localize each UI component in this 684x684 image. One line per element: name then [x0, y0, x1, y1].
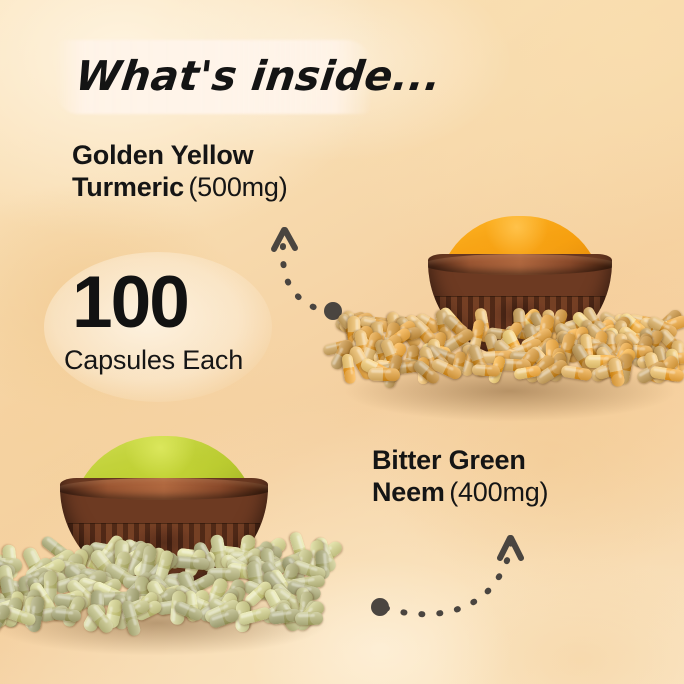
capsule	[52, 607, 82, 622]
ingredient-label-turmeric: Golden Yellow Turmeric (500mg)	[72, 140, 288, 204]
capsule	[295, 612, 323, 625]
product-image-turmeric	[332, 218, 684, 418]
ingredient-label-neem: Bitter Green Neem (400mg)	[372, 445, 548, 509]
capsule	[368, 367, 400, 380]
product-image-neem	[0, 438, 334, 648]
ingredient-name-line2: Neem	[372, 477, 445, 507]
background-wash	[430, 560, 684, 684]
page-title: What's inside...	[73, 52, 444, 100]
bowl-rim	[428, 254, 612, 275]
ingredient-name-line1: Golden Yellow	[72, 140, 253, 170]
capsule-count: 100	[72, 268, 188, 337]
ingredient-name-line2: Turmeric	[72, 172, 184, 202]
capsule-count-caption: Capsules Each	[64, 345, 243, 376]
dashed-arrow-icon-neem	[360, 520, 540, 630]
ingredient-dosage: (500mg)	[188, 172, 287, 202]
ingredient-dosage: (400mg)	[449, 477, 548, 507]
bowl-rim	[60, 478, 268, 500]
poster-canvas: What's inside... Golden Yellow Turmeric …	[0, 0, 684, 684]
ingredient-name-line1: Bitter Green	[372, 445, 526, 475]
